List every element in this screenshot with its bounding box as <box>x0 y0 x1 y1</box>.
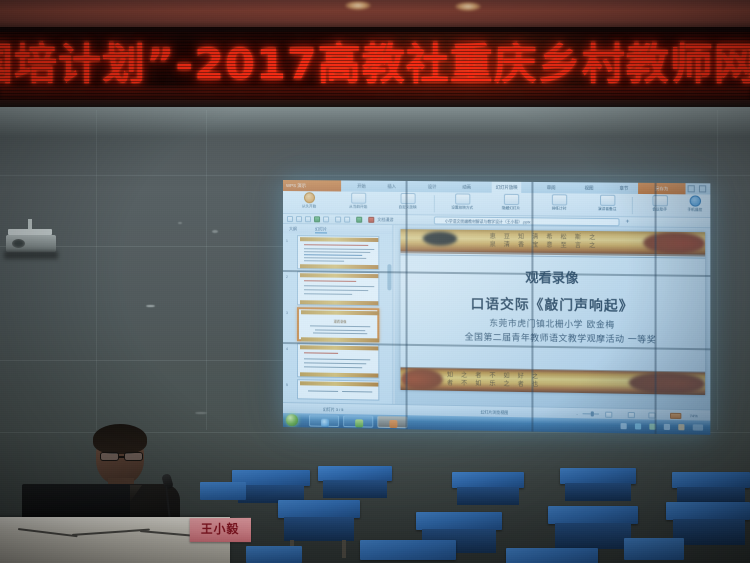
ribbon-btn-hide-slide[interactable]: 隐藏幻灯片 <box>488 194 535 216</box>
thumb-line <box>304 366 362 368</box>
desk-top <box>318 466 392 481</box>
slide-thumbnail[interactable] <box>297 235 379 270</box>
thumb-line <box>304 362 366 364</box>
name-card-text: 王小毅 <box>190 522 251 537</box>
thumb-band <box>300 300 378 305</box>
timer-icon <box>551 194 566 205</box>
ribbon-btn-rehearse[interactable]: 排练计时 <box>536 194 583 216</box>
wall-highlight <box>146 305 155 307</box>
band-calligraphy: 泉 清 香 宝 意 至 言 之 <box>490 241 599 249</box>
wps-presentation-window[interactable]: WPS 演示 另存为 开始 插入 设计 动画 幻灯片放映 审阅 视图 章节 从头… <box>283 180 710 435</box>
slideshow-view-icon[interactable] <box>670 412 681 418</box>
cloud-icon[interactable] <box>368 217 374 223</box>
thumb-line <box>304 244 368 246</box>
ink-blot <box>423 231 457 245</box>
thumb-line <box>304 257 366 259</box>
name-card: 王小毅 <box>190 518 251 542</box>
thumb-line <box>310 325 370 327</box>
view-label: 幻灯片浏览视图 <box>481 407 509 417</box>
slide-decor-band-top: 恵 豆 知 清 希 松 斯 之 泉 清 香 宝 意 至 言 之 <box>401 229 706 254</box>
tray-icon[interactable] <box>649 424 655 430</box>
tab-slides[interactable]: 幻灯片 <box>315 225 327 233</box>
desk-top <box>278 500 360 518</box>
led-banner-text: 国培计划”-2017高教社重庆乡村教师网络研修 <box>0 35 750 95</box>
ribbon-btn-label: 手机遥控 <box>681 208 708 212</box>
ribbon-btn-label: 隐藏幻灯片 <box>488 206 535 210</box>
undo-icon[interactable] <box>335 216 341 222</box>
ribbon-tab-slideshow[interactable]: 幻灯片放映 <box>492 182 522 193</box>
thumb-line <box>308 390 338 392</box>
tray-icon[interactable] <box>678 424 684 430</box>
ribbon-tab-start[interactable]: 开始 <box>357 181 366 192</box>
projector-lens-icon <box>12 239 25 248</box>
thumb-line <box>304 293 352 295</box>
cloud-label[interactable]: 文档漫游 <box>377 216 393 224</box>
thumb-line <box>304 358 370 360</box>
thumb-line <box>313 332 367 334</box>
thumb-band <box>300 372 378 377</box>
redo-icon[interactable] <box>344 217 350 223</box>
hide-icon <box>503 194 518 205</box>
internet-explorer-icon <box>321 419 329 427</box>
ribbon-separator <box>434 195 435 212</box>
ribbon-btn-label: 会议助手 <box>636 207 683 211</box>
slide-presenter-line: 东莞市虎门镇北栅小学 欧金梅 <box>401 318 706 333</box>
slide-editing-area[interactable]: 恵 豆 知 清 希 松 斯 之 泉 清 香 宝 意 至 言 之 观看录像 口语交… <box>394 225 710 409</box>
presenter-hair <box>93 424 147 454</box>
wall-sheen <box>0 107 750 137</box>
ribbon-tab-view[interactable]: 视图 <box>585 182 594 193</box>
new-icon[interactable] <box>287 216 293 222</box>
zoom-slider-knob[interactable] <box>591 411 594 416</box>
ink-blot <box>401 368 443 391</box>
tab-outline[interactable]: 大纲 <box>289 225 297 232</box>
thumb-line <box>304 254 362 256</box>
thumb-band <box>300 264 378 269</box>
lecture-hall-photo: 国培计划”-2017高教社重庆乡村教师网络研修 WPS 演示 另存为 <box>0 0 750 563</box>
thumb-number: 5 <box>286 383 288 387</box>
wps-icon <box>389 420 397 428</box>
desk-front <box>555 523 631 549</box>
projection-screen[interactable]: WPS 演示 另存为 开始 插入 设计 动画 幻灯片放映 审阅 视图 章节 从头… <box>283 180 710 435</box>
ribbon-btn-meeting[interactable]: 会议助手 <box>636 195 683 217</box>
tray-icon[interactable] <box>635 423 641 429</box>
open-icon[interactable] <box>296 216 302 222</box>
slide-sorter-view-icon[interactable] <box>628 412 635 418</box>
led-frame-top <box>0 27 750 32</box>
print-icon[interactable] <box>314 216 320 222</box>
tray-icon[interactable] <box>621 423 627 429</box>
thumb-line <box>304 248 374 250</box>
thumb-title: 观看录像 <box>307 318 373 324</box>
band-calligraphy: 知 之 者 不 如 好 之 <box>447 372 541 381</box>
band-calligraphy: 者 不 如 乐 之 者 也 <box>447 380 541 389</box>
wps-app-tab[interactable]: WPS 演示 <box>283 180 341 191</box>
wall-highlight <box>178 222 182 224</box>
wall-tile-line <box>0 175 750 176</box>
thumb-line <box>304 285 374 287</box>
tray-icon[interactable] <box>664 424 670 430</box>
wall-highlight <box>195 412 207 414</box>
thumb-line <box>304 280 356 282</box>
slide-counter: 幻灯片 3 / 5 <box>323 405 343 414</box>
desk-front <box>284 517 354 541</box>
thumb-band <box>301 337 379 342</box>
chair-back <box>200 482 246 500</box>
ribbon-tab-section[interactable]: 章节 <box>620 183 629 194</box>
ribbon-btn-label: 设置放映方式 <box>439 205 486 209</box>
ribbon-tab-animation[interactable]: 动画 <box>462 181 471 192</box>
led-banner: 国培计划”-2017高教社重庆乡村教师网络研修 <box>0 27 750 105</box>
thumb-line <box>342 391 372 393</box>
slide-thumbnail[interactable] <box>297 271 379 306</box>
phone-remote-icon <box>689 195 700 206</box>
green-app-icon <box>355 419 363 427</box>
screen-icon <box>455 193 470 204</box>
screen-icon <box>400 193 415 204</box>
wall-tile-line <box>206 110 207 430</box>
ribbon-btn-label: 演讲者备注 <box>584 207 631 211</box>
preview-icon[interactable] <box>323 216 329 222</box>
eyeglasses-bridge <box>119 456 125 458</box>
thumb-band <box>301 310 379 315</box>
thumb-band <box>300 345 378 350</box>
slide-award-line: 全国第二届青年教师语文教学观摩活动 一等奖 <box>401 332 706 348</box>
ceiling-projector <box>6 219 58 259</box>
desk-front <box>565 483 631 501</box>
wall-tile-line <box>96 110 97 430</box>
desk-top <box>416 512 502 530</box>
desk-front <box>323 480 387 498</box>
slide-thumbnail-selected[interactable]: 观看录像 <box>297 307 379 342</box>
eyeglasses-icon <box>100 452 119 461</box>
slide-decor-band-bottom: 知 之 者 不 如 好 之 者 不 如 乐 之 者 也 <box>401 368 706 395</box>
current-slide[interactable]: 恵 豆 知 清 希 松 斯 之 泉 清 香 宝 意 至 言 之 观看录像 口语交… <box>401 229 706 395</box>
desk-top <box>506 548 598 563</box>
slide-thumbnail[interactable] <box>297 343 379 378</box>
thumb-band <box>300 273 378 278</box>
wall-highlight <box>212 230 218 233</box>
zoom-level[interactable]: 74% <box>690 411 698 420</box>
ribbon-btn-label: 自定义放映 <box>384 205 430 209</box>
thumb-number: 1 <box>286 239 288 243</box>
ribbon-separator <box>632 197 633 214</box>
chair-back <box>624 538 684 560</box>
ribbon-btn-label: 排练计时 <box>536 206 583 210</box>
thumb-number: 4 <box>286 347 288 351</box>
ceiling-downlight <box>455 2 481 11</box>
meeting-icon <box>652 195 667 206</box>
projector-shadow <box>4 251 58 259</box>
ribbon-btn-label: 从当前开始 <box>335 204 381 208</box>
desk-leg <box>342 540 346 558</box>
eyeglasses-icon <box>124 452 143 461</box>
slide-title: 口语交际《敲门声响起》 <box>401 295 706 315</box>
chair-back <box>246 546 302 563</box>
thumb-band <box>300 237 378 242</box>
close-button[interactable] <box>699 185 706 192</box>
desk-top <box>666 502 750 520</box>
ink-blot <box>643 232 705 255</box>
thumb-line <box>304 352 338 354</box>
minimize-button[interactable] <box>688 185 695 192</box>
reading-view-icon[interactable] <box>648 412 655 418</box>
normal-view-icon[interactable] <box>605 411 612 417</box>
ceiling <box>0 0 750 30</box>
desk-top <box>560 468 636 484</box>
spellcheck-icon[interactable] <box>356 217 362 223</box>
wall-tile-line <box>717 110 718 430</box>
thumb-line <box>304 251 370 253</box>
slide-thumbnail-pane[interactable]: 1 2 3 <box>283 233 393 404</box>
band-calligraphy: 恵 豆 知 清 希 松 斯 之 <box>490 233 599 241</box>
thumbnail-scrollbar-thumb[interactable] <box>387 264 391 290</box>
start-button[interactable] <box>286 414 298 426</box>
thumb-line <box>304 260 344 261</box>
tray-clock[interactable] <box>693 424 703 430</box>
thumb-number: 2 <box>286 275 288 279</box>
ink-blot <box>629 371 705 395</box>
taskbar-item-wps[interactable] <box>377 416 407 429</box>
taskbar-item-ie[interactable] <box>309 414 339 427</box>
led-frame-bottom <box>0 100 750 107</box>
ribbon-btn-label: 从头开始 <box>286 204 332 208</box>
thumb-band <box>300 381 378 386</box>
ribbon-btn-phone-remote[interactable]: 手机遥控 <box>681 195 708 217</box>
ribbon-tab-design[interactable]: 设计 <box>428 181 437 192</box>
slide-thumbnail[interactable] <box>297 379 379 400</box>
thumb-line <box>315 329 365 331</box>
ribbon-btn-from-start[interactable]: 从头开始 <box>286 192 332 213</box>
ceiling-downlight <box>345 1 371 10</box>
wall-tile-line <box>0 360 283 361</box>
thumb-line <box>304 289 368 291</box>
zoom-out-button[interactable]: - <box>576 409 577 418</box>
ribbon-btn-presenter-notes[interactable]: 演讲者备注 <box>584 195 631 217</box>
notes-icon <box>599 195 614 206</box>
ribbon-btn-from-current[interactable]: 从当前开始 <box>335 192 381 213</box>
desk-top <box>360 540 456 560</box>
save-as-button[interactable]: 另存为 <box>638 183 685 195</box>
desk-top <box>548 506 638 524</box>
taskbar-item-green-app[interactable] <box>343 415 373 428</box>
new-tab-button[interactable]: + <box>626 218 630 226</box>
thumb-number: 3 <box>286 311 288 315</box>
ribbon-btn-setup-show[interactable]: 设置放映方式 <box>439 193 486 215</box>
slide-heading: 观看录像 <box>401 269 706 288</box>
ribbon-tab-review[interactable]: 审阅 <box>547 182 556 193</box>
ribbon-btn-custom-show[interactable]: 自定义放映 <box>384 193 430 215</box>
ribbon-tab-insert[interactable]: 插入 <box>387 181 396 192</box>
save-icon[interactable] <box>305 216 311 222</box>
screen-icon <box>351 193 366 204</box>
desk-top <box>452 472 524 488</box>
desk-top <box>672 472 750 488</box>
play-round-icon <box>304 192 315 203</box>
desk-front <box>457 487 519 505</box>
